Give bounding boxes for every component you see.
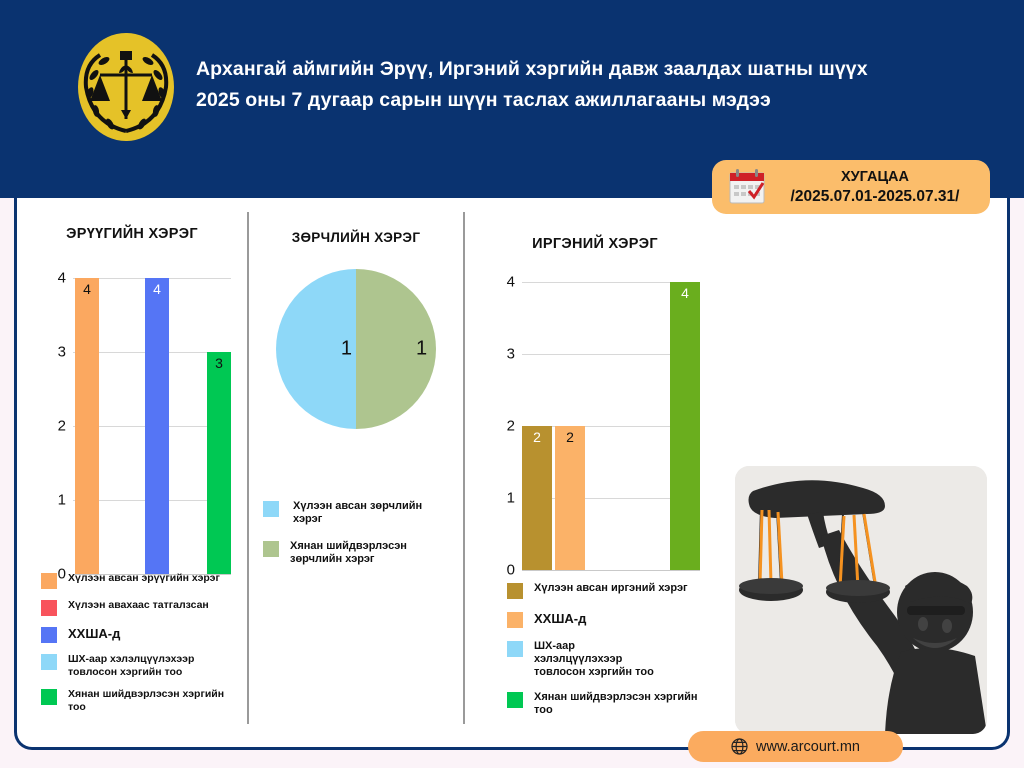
legend-label: ХХША-д (534, 611, 586, 626)
chart-title-civil: ИРГЭНИЙ ХЭРЭГ (465, 236, 725, 252)
bar-civil-hhsha: 2 (555, 426, 585, 570)
page-title: Архангай аймгийн Эрүү, Иргэний хэргийн д… (196, 54, 896, 116)
y-tick: 3 (58, 344, 73, 361)
legend-swatch (41, 573, 57, 589)
legend-item: Хянан шийдвэрлэсэн хэргийн тоо (41, 688, 231, 713)
website-url-badge[interactable]: www.arcourt.mn (688, 731, 903, 762)
y-tick: 2 (58, 418, 73, 435)
legend-swatch (263, 501, 279, 517)
legend-item: Хянан шийдвэрлэсэн зөрчлийн хэрэг (263, 540, 453, 566)
chart-title-violation: ЗӨРЧЛИЙН ХЭРЭГ (249, 230, 463, 245)
legend-item: Хүлээн авахаас татгалзсан (41, 599, 231, 616)
legend-label: Хүлээн авсан эрүүгийн хэрэг (68, 572, 220, 585)
bar-criminal-received: 4 (75, 278, 99, 574)
bar-value: 2 (555, 429, 585, 445)
legend-swatch (263, 541, 279, 557)
legend-item: Хүлээн авсан зөрчлийн хэрэг (263, 500, 453, 526)
legend-label: Хянан шийдвэрлэсэн хэргийн тоо (68, 688, 231, 713)
legend-label: ШХ-аар хэлэлцүүлэхээр товлосон хэргийн т… (68, 653, 231, 678)
mongolia-court-emblem-icon (70, 31, 182, 143)
y-tick: 1 (58, 492, 73, 509)
legend-label: Хүлээн авсан иргэний хэрэг (534, 582, 688, 595)
y-tick: 4 (507, 274, 522, 291)
legend-item: ХХША-д (41, 626, 231, 643)
legend-item: ШХ-аар хэлэлцүүлэхээр товлосон хэргийн т… (41, 653, 231, 678)
lady-justice-statue-photo (735, 466, 987, 734)
legend-item: ШХ-аар хэлэлцүүлэхээр товлосон хэргийн т… (507, 640, 717, 679)
legend-swatch (507, 692, 523, 708)
legend-swatch (41, 600, 57, 616)
pie-body (276, 269, 436, 429)
globe-icon (731, 738, 748, 755)
legend-item: Хянан шийдвэрлэсэн хэргийн тоо (507, 691, 717, 717)
legend-label: Хүлээн авахаас татгалзсан (68, 599, 209, 612)
date-range-text: ХУГАЦАА /2025.07.01-2025.07.31/ (774, 168, 976, 206)
legend-swatch (41, 654, 57, 670)
bar-criminal-hhsha: 4 (145, 278, 169, 574)
date-range-badge: ХУГАЦАА /2025.07.01-2025.07.31/ (712, 160, 990, 214)
legend-swatch (41, 689, 57, 705)
chart-civil-cases: ИРГЭНИЙ ХЭРЭГ 4 3 2 1 0 2 (465, 198, 725, 750)
legend-swatch (507, 641, 523, 657)
legend-item: Хүлээн авсан эрүүгийн хэрэг (41, 572, 231, 589)
legend-item: Хүлээн авсан иргэний хэрэг (507, 582, 717, 599)
pie-chart-violation: 1 1 (276, 269, 436, 429)
bar-value: 4 (670, 285, 700, 301)
legend-violation: Хүлээн авсан зөрчлийн хэрэг Хянан шийдвэ… (249, 500, 463, 576)
bar-criminal-resolved: 3 (207, 352, 231, 574)
date-badge-range: /2025.07.01-2025.07.31/ (774, 187, 976, 206)
bar-value: 4 (75, 281, 99, 297)
legend-label: Хянан шийдвэрлэсэн хэргийн тоо (534, 691, 717, 717)
legend-swatch (41, 627, 57, 643)
legend-criminal: Хүлээн авсан эрүүгийн хэрэг Хүлээн аваха… (17, 572, 247, 723)
pie-value: 1 (341, 338, 352, 361)
y-tick: 2 (507, 418, 522, 435)
infographic-page: Архангай аймгийн Эрүү, Иргэний хэргийн д… (0, 0, 1024, 768)
bar-value: 2 (522, 429, 552, 445)
y-tick: 4 (58, 270, 73, 287)
legend-item: ХХША-д (507, 611, 717, 628)
y-tick: 1 (507, 490, 522, 507)
bar-civil-received: 2 (522, 426, 552, 570)
legend-label: ХХША-д (68, 626, 120, 641)
chart-title-criminal: ЭРҮҮГИЙН ХЭРЭГ (17, 226, 247, 242)
legend-civil: Хүлээн авсан иргэний хэрэг ХХША-д ШХ-аар… (465, 582, 725, 727)
calendar-icon (726, 167, 768, 207)
bar-civil-resolved: 4 (670, 282, 700, 570)
legend-swatch (507, 612, 523, 628)
y-tick: 0 (507, 562, 522, 579)
bar-value: 3 (207, 355, 231, 371)
y-tick: 3 (507, 346, 522, 363)
legend-swatch (507, 583, 523, 599)
date-badge-label: ХУГАЦАА (841, 169, 909, 185)
chart-violation-cases: ЗӨРЧЛИЙН ХЭРЭГ 1 1 Хүлээн авсан зөрчлийн… (249, 198, 463, 750)
page-title-line1: Архангай аймгийн Эрүү, Иргэний хэргийн д… (196, 58, 868, 80)
bar-value: 4 (145, 281, 169, 297)
legend-label: ШХ-аар хэлэлцүүлэхээр товлосон хэргийн т… (534, 640, 654, 679)
website-url-text: www.arcourt.mn (756, 739, 860, 755)
chart-criminal-cases: ЭРҮҮГИЙН ХЭРЭГ 4 3 2 1 0 4 (17, 198, 247, 750)
legend-label: Хүлээн авсан зөрчлийн хэрэг (293, 500, 453, 526)
legend-label: Хянан шийдвэрлэсэн зөрчлийн хэрэг (290, 540, 453, 566)
pie-value: 1 (416, 338, 427, 361)
page-title-line2: 2025 оны 7 дугаар сарын шүүн таслах ажил… (196, 85, 896, 116)
